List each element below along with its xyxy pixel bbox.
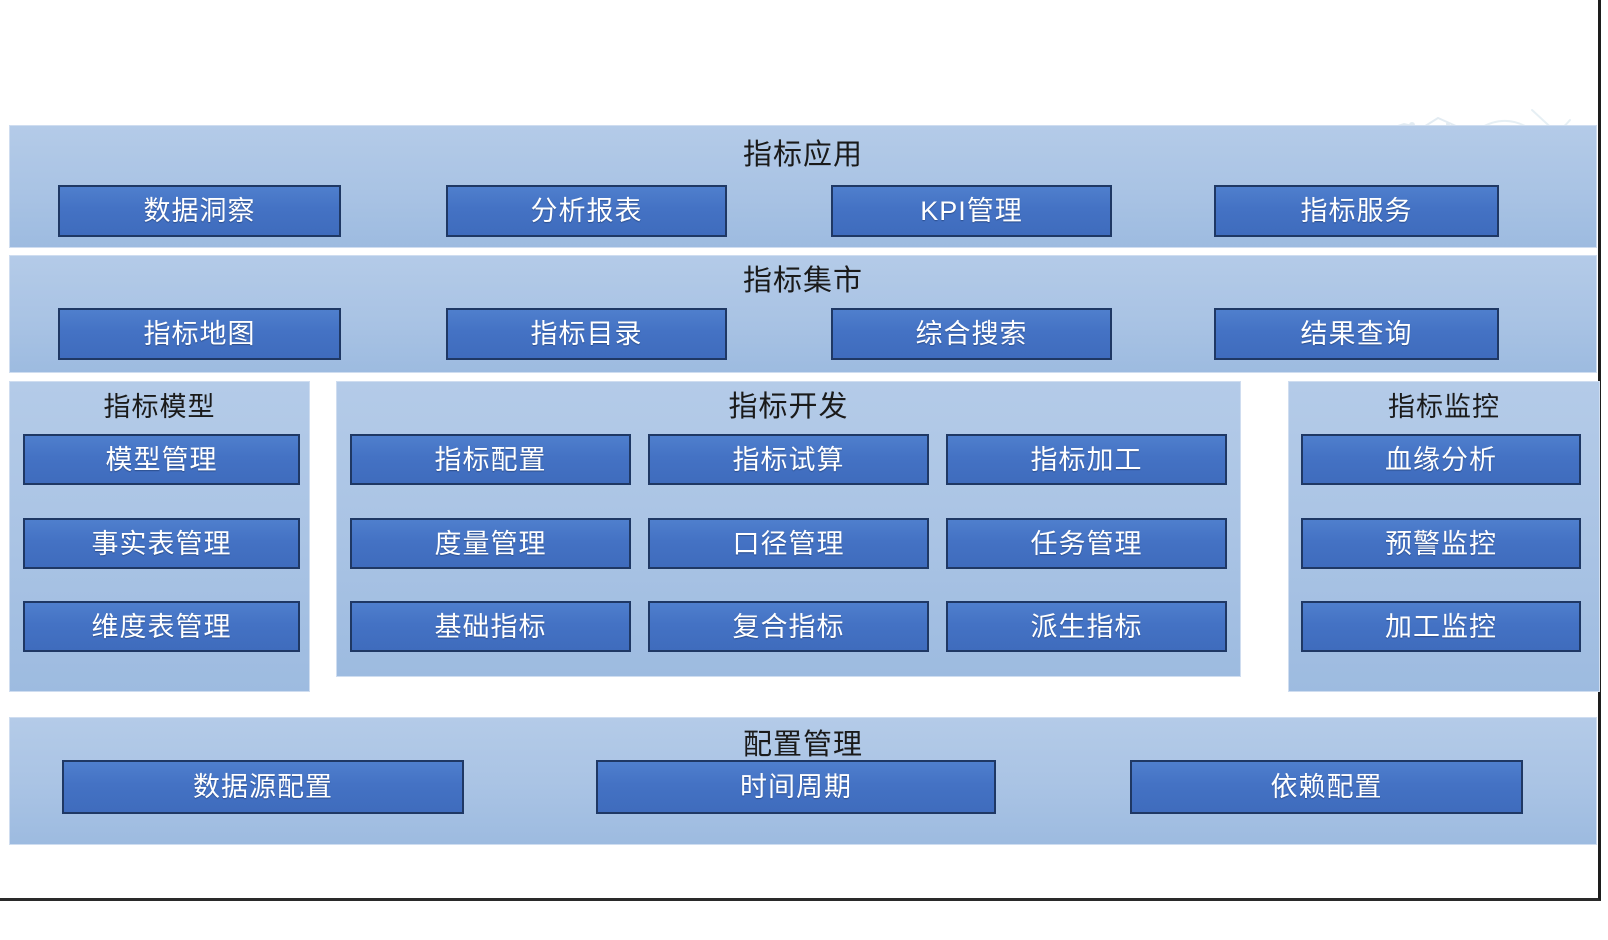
tile-result-query[interactable]: 结果查询: [1214, 308, 1499, 360]
tile-caliber-management[interactable]: 口径管理: [648, 518, 929, 569]
layer-configuration-management: 配置管理 数据源配置 时间周期 依赖配置: [9, 717, 1597, 845]
tile-indicator-catalog[interactable]: 指标目录: [446, 308, 727, 360]
tile-kpi-management[interactable]: KPI管理: [831, 185, 1112, 237]
tile-indicator-configuration[interactable]: 指标配置: [350, 434, 631, 485]
tile-lineage-analysis[interactable]: 血缘分析: [1301, 434, 1581, 485]
tile-indicator-map[interactable]: 指标地图: [58, 308, 341, 360]
layer-title-mart: 指标集市: [10, 264, 1596, 298]
tile-alert-monitoring[interactable]: 预警监控: [1301, 518, 1581, 569]
layer-indicator-mart: 指标集市 指标地图 指标目录 综合搜索 结果查询: [9, 255, 1597, 373]
layer-title-monitoring: 指标监控: [1289, 390, 1599, 424]
tile-comprehensive-search[interactable]: 综合搜索: [831, 308, 1112, 360]
layer-title-application: 指标应用: [10, 138, 1596, 172]
tile-dimension-table-management[interactable]: 维度表管理: [23, 601, 300, 652]
tile-fact-table-management[interactable]: 事实表管理: [23, 518, 300, 569]
tile-task-management[interactable]: 任务管理: [946, 518, 1227, 569]
tile-time-period[interactable]: 时间周期: [596, 760, 996, 814]
tile-analysis-report[interactable]: 分析报表: [446, 185, 727, 237]
tile-composite-indicator[interactable]: 复合指标: [648, 601, 929, 652]
tile-indicator-processing[interactable]: 指标加工: [946, 434, 1227, 485]
tile-derived-indicator[interactable]: 派生指标: [946, 601, 1227, 652]
layer-title-development: 指标开发: [337, 390, 1240, 424]
tile-measure-management[interactable]: 度量管理: [350, 518, 631, 569]
layer-indicator-application: 指标应用 数据洞察 分析报表 KPI管理 指标服务: [9, 125, 1597, 248]
slide-canvas: 指标应用 数据洞察 分析报表 KPI管理 指标服务 指标集市 指标地图 指标目录…: [0, 0, 1601, 901]
layer-title-configuration: 配置管理: [10, 728, 1596, 762]
layer-title-model: 指标模型: [10, 390, 309, 424]
layer-indicator-model: 指标模型 模型管理 事实表管理 维度表管理: [9, 381, 310, 692]
layer-indicator-monitoring: 指标监控 血缘分析 预警监控 加工监控: [1288, 381, 1600, 692]
tile-datasource-configuration[interactable]: 数据源配置: [62, 760, 464, 814]
layer-indicator-development: 指标开发 指标配置 指标试算 指标加工 度量管理 口径管理 任务管理 基础指标 …: [336, 381, 1241, 677]
tile-model-management[interactable]: 模型管理: [23, 434, 300, 485]
tile-basic-indicator[interactable]: 基础指标: [350, 601, 631, 652]
tile-indicator-trial-calculation[interactable]: 指标试算: [648, 434, 929, 485]
tile-processing-monitoring[interactable]: 加工监控: [1301, 601, 1581, 652]
tile-data-insight[interactable]: 数据洞察: [58, 185, 341, 237]
tile-indicator-service[interactable]: 指标服务: [1214, 185, 1499, 237]
tile-dependency-configuration[interactable]: 依赖配置: [1130, 760, 1523, 814]
